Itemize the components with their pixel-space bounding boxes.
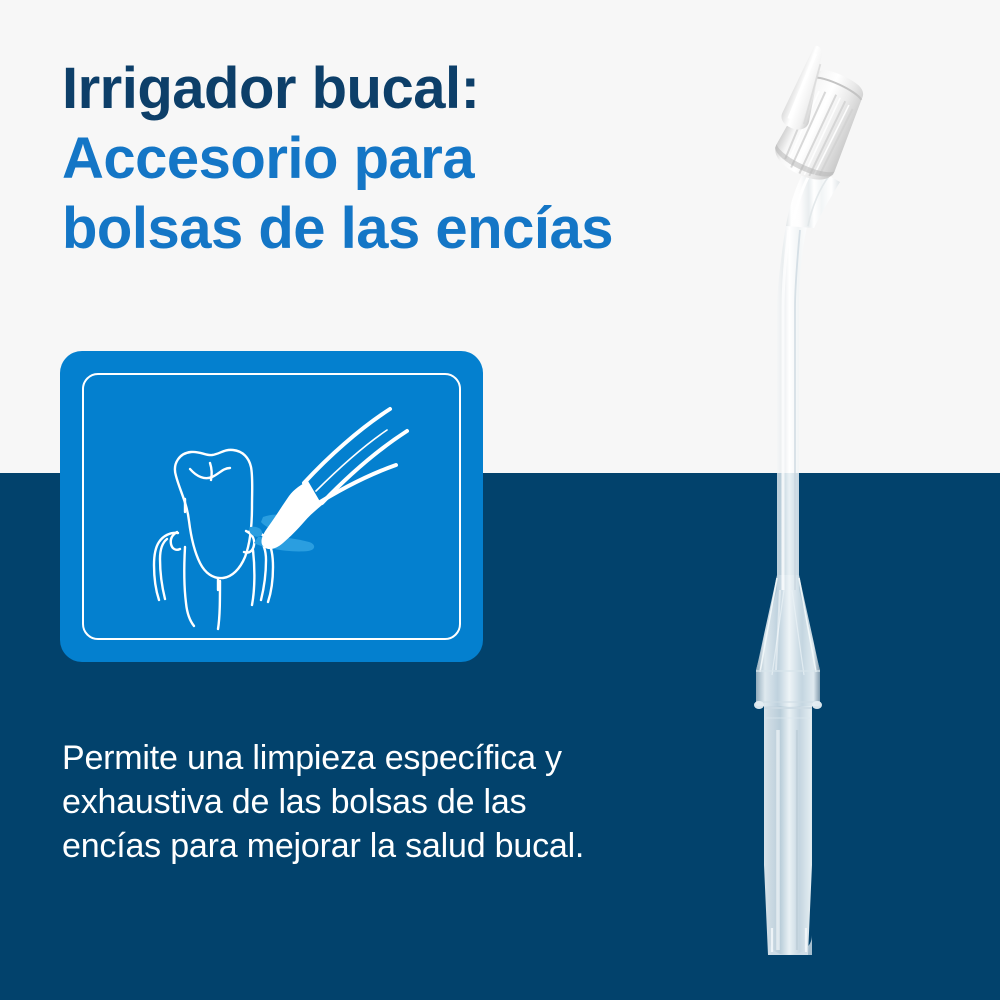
title-line-3: bolsas de las encías bbox=[62, 194, 762, 264]
title-line-1: Irrigador bucal: bbox=[62, 54, 762, 124]
irrigator-tip-shape bbox=[261, 409, 407, 549]
description-line-3: encías para mejorar la salud bucal. bbox=[62, 824, 782, 868]
page-title: Irrigador bucal: Accesorio para bolsas d… bbox=[62, 54, 762, 264]
product-marketing-image: Irrigador bucal: Accesorio para bolsas d… bbox=[0, 0, 1000, 1000]
illustration-card bbox=[60, 351, 483, 662]
title-line-2: Accesorio para bbox=[62, 124, 762, 194]
description-line-2: exhaustiva de las bolsas de las bbox=[62, 780, 782, 824]
description-line-1: Permite una limpieza específica y bbox=[62, 736, 782, 780]
description-text: Permite una limpieza específica y exhaus… bbox=[62, 736, 782, 868]
tooth-gum-pocket-icon bbox=[60, 351, 483, 662]
